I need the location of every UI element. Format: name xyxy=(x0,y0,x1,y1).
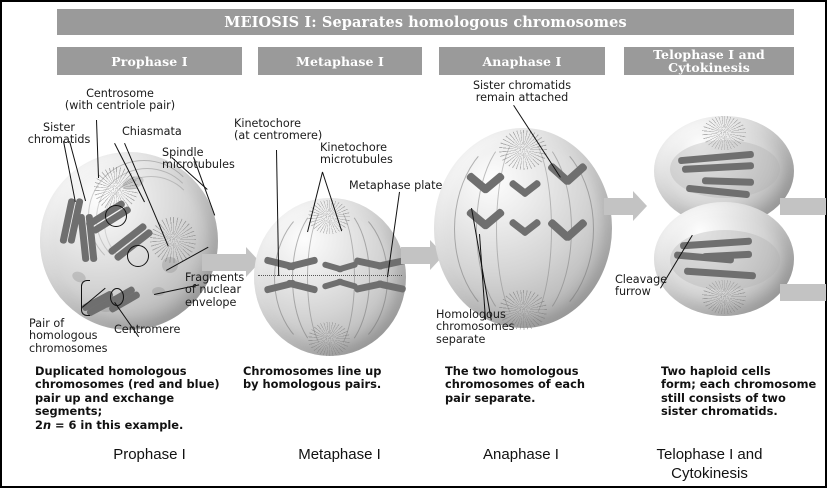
label-sister-chromatids: Sister chromatids xyxy=(26,122,92,147)
progression-arrow-out xyxy=(780,198,826,215)
caption-line: chromosomes (red and blue) xyxy=(35,378,235,391)
bottom-label-telophase-i: Telophase I and Cytokinesis xyxy=(622,445,797,483)
caption-anaphase-i: The two homologous chromosomes of each p… xyxy=(445,365,625,405)
label-centromere: Centromere xyxy=(114,324,194,336)
progression-arrow xyxy=(604,198,634,215)
phase-header-label: Telophase I and Cytokinesis xyxy=(624,48,794,74)
progression-arrow-out xyxy=(780,284,826,301)
caption-line: 2n = 6 in this example. xyxy=(35,419,235,432)
phase-header-telophase-i: Telophase I and Cytokinesis xyxy=(624,47,794,75)
phase-header-metaphase-i: Metaphase I xyxy=(258,47,422,75)
caption-ploidy-pre: 2 xyxy=(35,418,43,432)
bottom-label-metaphase-i: Metaphase I xyxy=(252,445,427,464)
label-sister-chromatids-attached: Sister chromatids remain attached xyxy=(464,80,580,105)
label-pair-homologous-chromosomes: Pair of homologous chromosomes xyxy=(29,318,107,355)
chiasma-marker xyxy=(127,245,149,267)
label-kinetochore-microtubules: Kinetochore microtubules xyxy=(320,142,402,167)
label-spindle-microtubules: Spindle microtubules xyxy=(162,147,238,172)
label-centrosome: Centrosome (with centriole pair) xyxy=(57,88,183,113)
centromere-marker xyxy=(110,288,124,306)
label-metaphase-plate: Metaphase plate xyxy=(349,180,447,192)
caption-prophase-i: Duplicated homologous chromosomes (red a… xyxy=(35,365,235,432)
kinetochore-microtubule xyxy=(307,202,355,354)
homolog-pair-bracket xyxy=(81,280,90,316)
progression-arrow xyxy=(401,247,431,264)
label-cleavage-furrow: Cleavage furrow xyxy=(615,274,677,299)
caption-ploidy-post: = 6 in this example. xyxy=(51,418,183,432)
label-chiasmata: Chiasmata xyxy=(122,126,202,138)
bottom-label-anaphase-i: Anaphase I xyxy=(437,445,605,464)
figure-title: MEIOSIS I: Separates homologous chromoso… xyxy=(224,14,626,31)
caption-metaphase-i: Chromosomes line up by homologous pairs. xyxy=(243,365,423,392)
label-fragments-nuclear-envelope: Fragments of nuclear envelope xyxy=(185,272,247,309)
meiosis-i-figure: MEIOSIS I: Separates homologous chromoso… xyxy=(0,0,827,488)
label-homologous-chromosomes-separate: Homologous chromosomes separate xyxy=(436,309,522,346)
caption-telophase-i: Two haploid cells form; each chromosome … xyxy=(661,365,827,419)
chiasma-marker xyxy=(105,205,127,227)
progression-arrow xyxy=(202,254,247,271)
phase-header-label: Metaphase I xyxy=(296,55,384,68)
phase-header-prophase-i: Prophase I xyxy=(57,47,242,75)
label-kinetochore: Kinetochore (at centromere) xyxy=(234,118,334,143)
phase-header-label: Anaphase I xyxy=(482,55,561,68)
metaphase-plate-line xyxy=(258,275,402,276)
caption-ploidy-n: n xyxy=(43,418,51,432)
phase-header-anaphase-i: Anaphase I xyxy=(439,47,605,75)
figure-title-bar: MEIOSIS I: Separates homologous chromoso… xyxy=(57,9,794,35)
phase-header-label: Prophase I xyxy=(111,55,187,68)
caption-line: pair up and exchange segments; xyxy=(35,392,235,419)
caption-line: Duplicated homologous xyxy=(35,365,235,378)
bottom-label-prophase-i: Prophase I xyxy=(57,445,242,464)
